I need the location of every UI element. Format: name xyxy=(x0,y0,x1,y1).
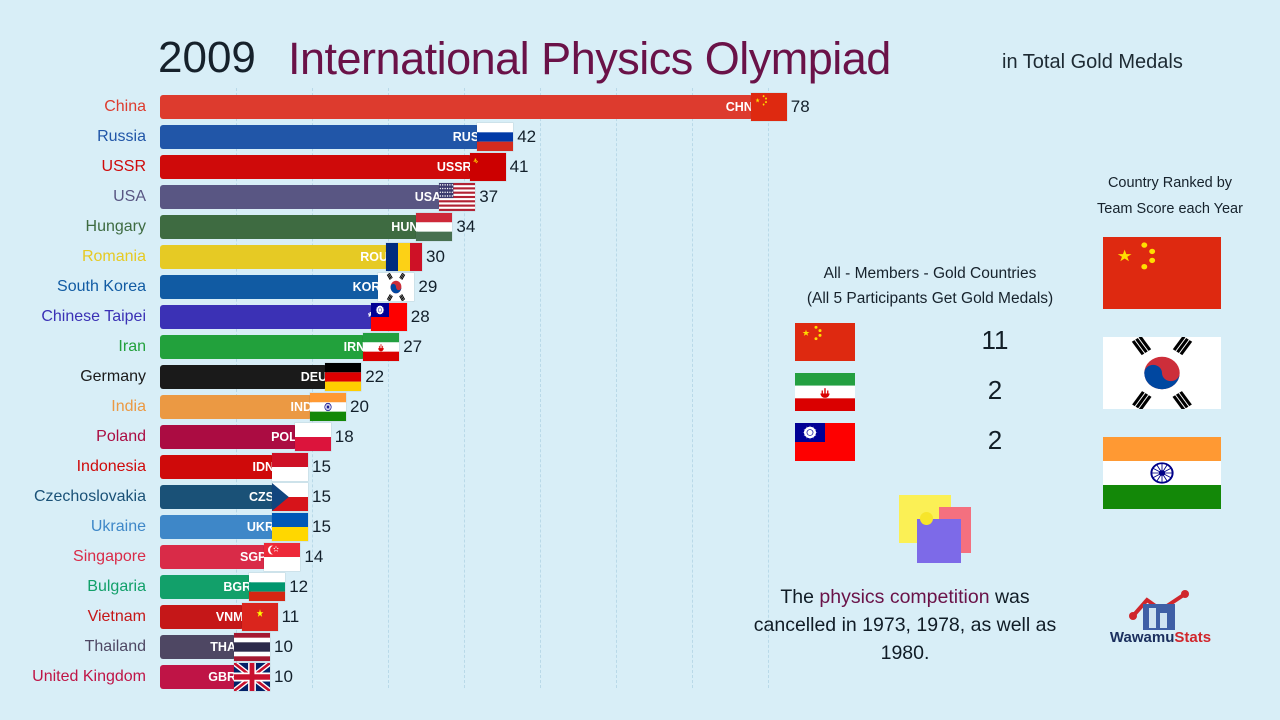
bar-row[interactable]: UkraineUKR15 xyxy=(0,512,1280,542)
bar-country-label: Poland xyxy=(96,426,146,448)
bar-row[interactable]: SingaporeSGP14 xyxy=(0,542,1280,572)
bar-value-label: 34 xyxy=(456,215,475,239)
wawamustats-logo: WawamuStats xyxy=(1093,588,1228,654)
bar-country-label: Ukraine xyxy=(91,516,146,538)
bar-country-code: IRN xyxy=(160,335,371,359)
bar-country-label: Romania xyxy=(82,246,146,268)
bar-country-code: IDN xyxy=(160,455,280,479)
bar-row[interactable]: VietnamVNM11 xyxy=(0,602,1280,632)
note-text-before: The xyxy=(780,586,819,608)
bar-row[interactable]: IndonesiaIDN15 xyxy=(0,452,1280,482)
ranked-flag-in-icon xyxy=(1103,437,1221,509)
bar-flag-de-icon xyxy=(325,363,361,391)
chart-logo-icon xyxy=(1123,588,1195,630)
bar-value-label: 42 xyxy=(517,125,536,149)
bar-value-label: 10 xyxy=(274,665,293,689)
bar-country-code: DEU xyxy=(160,365,333,389)
bar-flag-bg-icon xyxy=(249,573,285,601)
bar-flag-ua-icon xyxy=(272,513,308,541)
bar-country-label: India xyxy=(111,396,146,418)
bar-flag-ro-icon xyxy=(386,243,422,271)
bar-flag-in-icon xyxy=(310,393,346,421)
logo-text: WawamuStats xyxy=(1093,629,1228,646)
bar-value-label: 41 xyxy=(510,155,529,179)
bar-country-label: Thailand xyxy=(85,636,146,658)
bar-value-label: 14 xyxy=(304,545,323,569)
member-row: 2 xyxy=(795,373,1055,419)
bar-country-label: Indonesia xyxy=(77,456,146,478)
bar-flag-th-icon xyxy=(234,633,270,661)
bar-country-code: THA xyxy=(160,635,242,659)
bar-row[interactable]: BulgariaBGR12 xyxy=(0,572,1280,602)
bar-value-label: 29 xyxy=(418,275,437,299)
bar-country-code: ROU xyxy=(160,245,394,269)
bar-country-code: * xyxy=(160,305,379,329)
chart-subtitle: in Total Gold Medals xyxy=(1002,51,1183,74)
bar-country-code: BGR xyxy=(160,575,257,599)
bar-country-code: IND xyxy=(160,395,318,419)
bar-country-label: Bulgaria xyxy=(87,576,146,598)
bar-value-label: 37 xyxy=(479,185,498,209)
bar-country-code: POL xyxy=(160,425,303,449)
bar-value-label: 15 xyxy=(312,455,331,479)
bar-country-label: United Kingdom xyxy=(32,666,146,688)
member-count: 11 xyxy=(965,325,1025,356)
bar-value-label: 30 xyxy=(426,245,445,269)
bar-row[interactable]: United KingdomGBR10 xyxy=(0,662,1280,692)
bar-country-code: KOR xyxy=(160,275,386,299)
ranking-panel-line2: Team Score each Year xyxy=(1070,201,1270,217)
bar-country-label: USSR xyxy=(102,156,146,178)
member-row: 2 xyxy=(795,423,1055,469)
bar-country-code: RUS xyxy=(160,125,485,149)
bar-flag-cn-icon xyxy=(751,93,787,121)
chart-header: 2009 International Physics Olympiad in T… xyxy=(0,0,1280,92)
bar-row[interactable]: RussiaRUS42 xyxy=(0,122,1280,152)
bar-flag-ir-icon xyxy=(363,333,399,361)
bar-flag-gb-icon xyxy=(234,663,270,691)
members-panel-line1: All - Members - Gold Countries xyxy=(740,265,1120,283)
bar-flag-sg-icon xyxy=(264,543,300,571)
bar-flag-kr-icon xyxy=(378,273,414,301)
member-flag-cn-icon xyxy=(795,323,855,361)
note-text: The physics competition was cancelled in… xyxy=(740,583,1070,667)
page-title: International Physics Olympiad xyxy=(288,33,891,85)
member-row: 11 xyxy=(795,323,1055,369)
ranked-flag-cn-icon xyxy=(1103,237,1221,309)
bar-value-label: 20 xyxy=(350,395,369,419)
bar-country-code: VNM xyxy=(160,605,250,629)
bar-value-label: 27 xyxy=(403,335,422,359)
note-text-highlight: physics competition xyxy=(819,586,989,608)
bar-value-label: 15 xyxy=(312,485,331,509)
bar-country-label: Iran xyxy=(118,336,146,358)
bar-row[interactable]: CzechoslovakiaCZS15 xyxy=(0,482,1280,512)
bar-country-code: GBR xyxy=(160,665,242,689)
bar-value-label: 18 xyxy=(335,425,354,449)
bar-country-code: CZS xyxy=(160,485,280,509)
bar-country-code: HUN xyxy=(160,215,424,239)
bar-row[interactable]: IranIRN27 xyxy=(0,332,1280,362)
bar-country-code: CHN xyxy=(160,95,759,119)
decorative-squares-icon xyxy=(895,495,985,575)
bar-value-label: 10 xyxy=(274,635,293,659)
bar-value-label: 28 xyxy=(411,305,430,329)
bar-value-label: 78 xyxy=(791,95,810,119)
logo-text-part2: Stats xyxy=(1174,629,1211,646)
members-panel-line2: (All 5 Participants Get Gold Medals) xyxy=(740,290,1120,308)
bar-country-code: USSR xyxy=(160,155,478,179)
bar-row[interactable]: IndiaIND20 xyxy=(0,392,1280,422)
bar-country-code: SGP xyxy=(160,545,272,569)
bar-flag-tw-icon xyxy=(371,303,407,331)
bar-flag-hu-icon xyxy=(416,213,452,241)
member-flag-tw-icon xyxy=(795,423,855,461)
bar-flag-cz-icon xyxy=(272,483,308,511)
bar-country-label: USA xyxy=(113,186,146,208)
bar-country-label: Germany xyxy=(80,366,146,388)
member-count: 2 xyxy=(965,375,1025,406)
member-count: 2 xyxy=(965,425,1025,456)
bar-flag-us-icon xyxy=(439,183,475,211)
bar-country-label: China xyxy=(104,96,146,118)
ranking-panel-line1: Country Ranked by xyxy=(1070,175,1270,191)
bar-country-label: Singapore xyxy=(73,546,146,568)
member-flag-ir-icon xyxy=(795,373,855,411)
bar-flag-vn-icon xyxy=(242,603,278,631)
ranked-flag-kr-icon xyxy=(1103,337,1221,409)
logo-text-part1: Wawamu xyxy=(1110,629,1174,646)
bar-country-label: Hungary xyxy=(86,216,146,238)
bar-country-label: Chinese Taipei xyxy=(41,306,146,328)
bar-value-label: 11 xyxy=(282,605,300,629)
year-label: 2009 xyxy=(158,33,256,83)
bar-row[interactable]: ThailandTHA10 xyxy=(0,632,1280,662)
bar-flag-id-icon xyxy=(272,453,308,481)
bar-flag-pl-icon xyxy=(295,423,331,451)
bar-row[interactable]: ChinaCHN78 xyxy=(0,92,1280,122)
bar-value-label: 22 xyxy=(365,365,384,389)
bar-country-label: Vietnam xyxy=(88,606,146,628)
bar-country-code: USA xyxy=(160,185,447,209)
logo-chart-glyph xyxy=(1123,588,1195,630)
bar-value-label: 12 xyxy=(289,575,308,599)
bar-row[interactable]: GermanyDEU22 xyxy=(0,362,1280,392)
bar-country-label: South Korea xyxy=(57,276,146,298)
bar-country-label: Russia xyxy=(97,126,146,148)
bar-country-label: Czechoslovakia xyxy=(34,486,146,508)
bar-value-label: 15 xyxy=(312,515,331,539)
bar-row[interactable]: PolandPOL18 xyxy=(0,422,1280,452)
bar-flag-su-icon xyxy=(470,153,506,181)
bar-flag-ru-icon xyxy=(477,123,513,151)
bar-country-code: UKR xyxy=(160,515,280,539)
